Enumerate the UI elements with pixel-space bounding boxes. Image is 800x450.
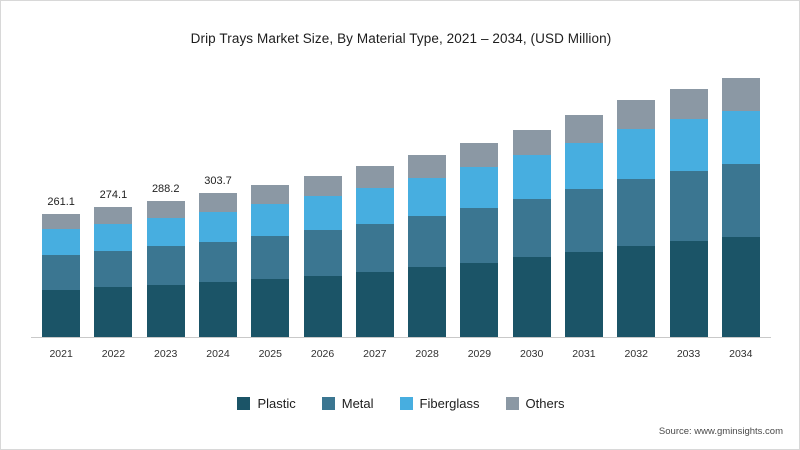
bar-column[interactable]: 2030 [506,71,558,338]
x-axis-tick-label: 2021 [49,348,72,360]
bar-stack[interactable] [42,214,80,338]
legend-item-fiberglass[interactable]: Fiberglass [400,396,480,411]
bar-column[interactable]: 2033 [662,71,714,338]
bar-segment-plastic[interactable] [304,276,342,338]
legend-label: Fiberglass [420,396,480,411]
bar-stack[interactable] [94,207,132,338]
bar-value-label: 261.1 [47,196,75,208]
bar-segment-metal[interactable] [304,230,342,275]
legend-label: Metal [342,396,374,411]
bar-column[interactable]: 2027 [349,71,401,338]
bar-stack[interactable] [513,130,551,338]
bar-stack[interactable] [147,201,185,338]
bar-segment-plastic[interactable] [408,267,446,338]
bar-segment-plastic[interactable] [251,279,289,338]
bar-segment-metal[interactable] [408,216,446,267]
bar-stack[interactable] [617,100,655,338]
x-axis-tick-label: 2029 [468,348,491,360]
bar-segment-metal[interactable] [147,246,185,285]
bar-segment-fiberglass[interactable] [513,155,551,198]
bar-stack[interactable] [408,155,446,338]
bar-segment-plastic[interactable] [199,282,237,338]
bar-segment-others[interactable] [617,100,655,130]
bar-segment-fiberglass[interactable] [199,212,237,242]
legend-item-others[interactable]: Others [506,396,565,411]
bar-segment-metal[interactable] [565,189,603,251]
bar-column[interactable]: 2032 [610,71,662,338]
bar-column[interactable]: 274.12022 [87,71,139,338]
bar-segment-fiberglass[interactable] [42,229,80,255]
x-axis-tick-label: 2030 [520,348,543,360]
bar-segment-metal[interactable] [460,208,498,263]
bar-segment-others[interactable] [513,130,551,156]
source-note: Source: www.gminsights.com [659,426,783,437]
bar-segment-others[interactable] [356,166,394,188]
bar-segment-others[interactable] [408,155,446,178]
legend-swatch-icon [237,397,250,410]
bar-stack[interactable] [722,78,760,338]
bar-stack[interactable] [199,193,237,338]
bar-segment-fiberglass[interactable] [147,218,185,247]
x-axis-tick-label: 2028 [415,348,438,360]
bar-segment-fiberglass[interactable] [408,178,446,216]
bar-segment-fiberglass[interactable] [94,224,132,251]
bar-value-label: 303.7 [204,175,232,187]
bar-stack[interactable] [356,166,394,338]
x-axis-tick-label: 2022 [102,348,125,360]
bar-column[interactable]: 2034 [715,71,767,338]
x-axis-line [31,337,771,338]
x-axis-tick-label: 2026 [311,348,334,360]
bar-segment-fiberglass[interactable] [565,143,603,189]
bar-segment-metal[interactable] [670,171,708,241]
x-axis-tick-label: 2033 [677,348,700,360]
bar-segment-metal[interactable] [199,242,237,283]
bar-segment-others[interactable] [722,78,760,110]
bar-segment-plastic[interactable] [513,257,551,338]
chart-title: Drip Trays Market Size, By Material Type… [1,31,800,46]
bar-column[interactable]: 2029 [453,71,505,338]
bar-value-label: 274.1 [100,189,128,201]
bar-segment-metal[interactable] [251,236,289,279]
legend-label: Others [526,396,565,411]
bar-segment-others[interactable] [304,176,342,197]
bar-segment-fiberglass[interactable] [670,119,708,171]
bar-stack[interactable] [304,176,342,338]
legend-item-metal[interactable]: Metal [322,396,374,411]
bar-segment-fiberglass[interactable] [304,196,342,230]
bar-segment-others[interactable] [460,143,498,167]
bar-segment-others[interactable] [251,185,289,204]
bar-segment-plastic[interactable] [460,263,498,338]
bar-segment-fiberglass[interactable] [460,167,498,208]
bar-segment-plastic[interactable] [356,272,394,338]
bar-segment-others[interactable] [42,214,80,230]
bar-column[interactable]: 261.12021 [35,71,87,338]
chart-page: Drip Trays Market Size, By Material Type… [0,0,800,450]
bar-stack[interactable] [565,115,603,338]
bar-segment-others[interactable] [670,89,708,120]
bar-segment-others[interactable] [199,193,237,211]
bar-segment-metal[interactable] [722,164,760,237]
bar-value-label: 288.2 [152,183,180,195]
bar-column[interactable]: 2025 [244,71,296,338]
bar-column[interactable]: 303.72024 [192,71,244,338]
bar-column[interactable]: 2026 [296,71,348,338]
bar-group: 261.12021274.12022288.22023303.720242025… [31,71,771,338]
bar-segment-plastic[interactable] [147,285,185,338]
bar-column[interactable]: 2031 [558,71,610,338]
bar-column[interactable]: 288.22023 [140,71,192,338]
x-axis-tick-label: 2023 [154,348,177,360]
bar-segment-fiberglass[interactable] [617,129,655,179]
bar-segment-metal[interactable] [617,179,655,246]
bar-segment-metal[interactable] [42,255,80,290]
x-axis-tick-label: 2027 [363,348,386,360]
legend-swatch-icon [506,397,519,410]
chart-legend: PlasticMetalFiberglassOthers [1,396,800,411]
legend-item-plastic[interactable]: Plastic [237,396,295,411]
bar-segment-plastic[interactable] [617,246,655,338]
bar-segment-plastic[interactable] [42,290,80,338]
bar-segment-metal[interactable] [356,224,394,272]
bar-segment-plastic[interactable] [94,287,132,338]
bar-segment-metal[interactable] [94,251,132,288]
x-axis-tick-label: 2024 [206,348,229,360]
x-axis-tick-label: 2032 [625,348,648,360]
bar-segment-others[interactable] [565,115,603,143]
x-axis-tick-label: 2034 [729,348,752,360]
bar-column[interactable]: 2028 [401,71,453,338]
bar-segment-others[interactable] [94,207,132,223]
legend-swatch-icon [322,397,335,410]
legend-swatch-icon [400,397,413,410]
legend-label: Plastic [257,396,295,411]
bar-stack[interactable] [251,185,289,338]
bar-segment-metal[interactable] [513,199,551,258]
bar-segment-fiberglass[interactable] [722,111,760,165]
bar-segment-fiberglass[interactable] [251,204,289,236]
bar-segment-plastic[interactable] [565,252,603,338]
plot-area: 261.12021274.12022288.22023303.720242025… [31,71,771,366]
bar-stack[interactable] [670,89,708,338]
x-axis-tick-label: 2031 [572,348,595,360]
bar-segment-plastic[interactable] [670,241,708,338]
x-axis-tick-label: 2025 [259,348,282,360]
bar-segment-others[interactable] [147,201,185,218]
bar-segment-plastic[interactable] [722,237,760,338]
bar-stack[interactable] [460,143,498,338]
bar-segment-fiberglass[interactable] [356,188,394,224]
